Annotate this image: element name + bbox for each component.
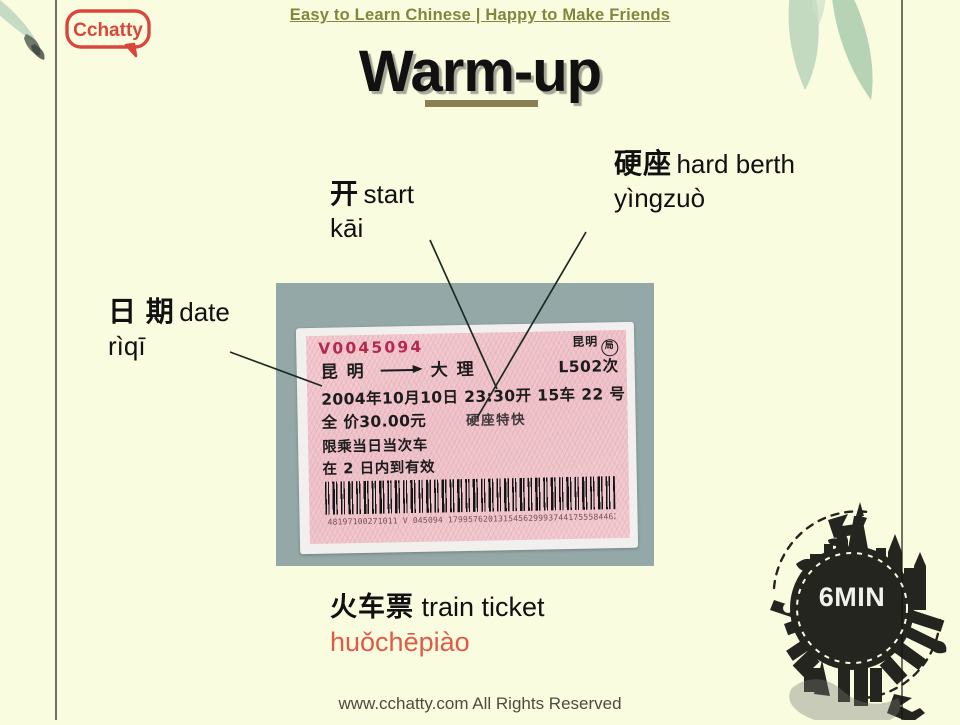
ticket-fare: 全 价30.00元	[322, 412, 427, 432]
annotation-riqi: 日 期 date rìqī	[108, 294, 230, 363]
annotation-yingzuo-pinyin: yìngzuò	[614, 182, 795, 215]
ticket-face: V0045094 昆明局 昆明 大理 L502次 2004年10月10日 23:…	[306, 330, 630, 544]
annotation-kai-english: start	[363, 179, 414, 209]
annotation-riqi-hanzi: 日 期	[108, 296, 175, 327]
ticket-origin-station: 昆明	[320, 357, 372, 383]
ticket-train-number: L502次	[558, 354, 619, 377]
arrow-right-icon	[381, 363, 423, 374]
ticket-destination-station: 大理	[430, 355, 482, 381]
ticket-route-line: 昆明 大理 L502次	[320, 352, 618, 383]
ticket-serial-number: V0045094	[318, 338, 423, 358]
ticket-note-one: 限乘当日当次车	[322, 434, 428, 457]
ticket-caption-row-one: 火车票 train ticket	[330, 590, 545, 625]
annotation-yingzuo-hanzi: 硬座	[614, 148, 672, 179]
ticket-card: V0045094 昆明局 昆明 大理 L502次 2004年10月10日 23:…	[296, 322, 638, 554]
ticket-micro-print: 48197100271011 V 045094 1799576201315456…	[328, 512, 616, 527]
annotation-kai: 开 start kāi	[330, 176, 414, 245]
slide-canvas: Cchatty Easy to Learn Chinese | Happy to…	[0, 0, 960, 720]
ticket-stamp-station: 昆明	[572, 334, 598, 348]
ticket-caption-hanzi: 火车票	[330, 592, 414, 622]
ticket-caption-english: train ticket	[422, 592, 545, 622]
annotation-riqi-english: date	[179, 297, 230, 327]
page-title: Warm-up	[0, 38, 960, 105]
ticket-fare-line: 全 价30.00元 硬座特快	[321, 407, 526, 433]
six-minute-badge: 6MIN	[744, 492, 960, 720]
ticket-barcode	[325, 476, 616, 515]
border-rule-left	[55, 0, 57, 720]
train-ticket-photo: V0045094 昆明局 昆明 大理 L502次 2004年10月10日 23:…	[276, 283, 654, 566]
ticket-caption: 火车票 train ticket huǒchēpiào	[330, 590, 545, 660]
annotation-kai-hanzi: 开	[330, 178, 359, 209]
title-underline-bar	[425, 100, 538, 107]
annotation-yingzuo-english: hard berth	[676, 149, 795, 179]
header-tagline-link[interactable]: Easy to Learn Chinese | Happy to Make Fr…	[0, 6, 960, 25]
ticket-caption-pinyin: huǒchēpiào	[330, 625, 545, 660]
annotation-kai-pinyin: kāi	[330, 212, 414, 245]
ticket-date-time: 2004年10月10日 23:30开 15车 22 号	[321, 382, 626, 410]
annotation-yingzuo: 硬座 hard berth yìngzuò	[614, 146, 795, 215]
annotation-riqi-pinyin: rìqī	[108, 330, 230, 363]
ticket-note-two: 在 2 日内到有效	[322, 456, 435, 479]
ticket-seat-class: 硬座特快	[466, 412, 526, 429]
